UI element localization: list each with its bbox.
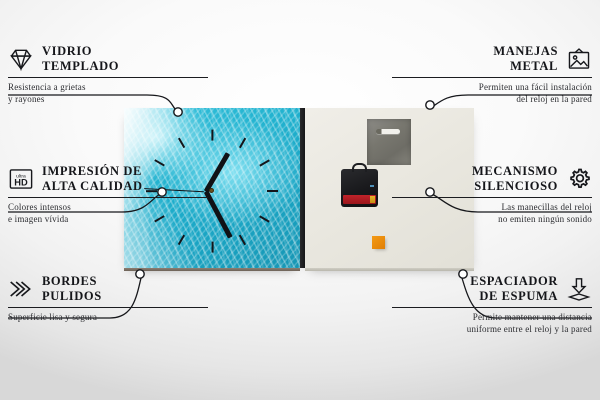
arrow-down-layers-icon — [566, 276, 592, 302]
feature-divider — [8, 197, 208, 198]
feature-sub-line1: Permiten una fácil instalación — [392, 81, 592, 93]
panel-edge-bottom — [124, 268, 300, 271]
clock-minute-hand — [204, 190, 233, 238]
feature-title-line1: IMPRESIÓN DE — [42, 164, 142, 178]
clock-tick — [259, 215, 269, 222]
hanger-keyhole-slot — [376, 129, 400, 134]
feature-subtitle: Resistencia a grietas y rayones — [8, 81, 208, 105]
feature-divider — [8, 77, 208, 78]
feature-header: MANEJAS METAL — [392, 44, 592, 74]
feature-title-line2: DE ESPUMA — [470, 289, 558, 304]
gear-icon — [566, 166, 592, 192]
feature-header: ESPACIADOR DE ESPUMA — [392, 274, 592, 304]
feature-title: VIDRIO TEMPLADO — [42, 44, 119, 74]
clock-tick — [178, 138, 185, 148]
clock-tick — [178, 234, 185, 244]
mechanism-hanging-loop — [352, 163, 367, 172]
feature-subtitle: Colores intensos e imagen vívida — [8, 201, 208, 225]
feature-title-line2: ALTA CALIDAD — [42, 179, 143, 194]
clock-tick — [211, 241, 213, 252]
metal-hanger-plate — [367, 119, 411, 165]
feature-title-line2: SILENCIOSO — [472, 179, 558, 194]
feature-title: ESPACIADOR DE ESPUMA — [470, 274, 558, 304]
feature-subtitle: Superficie lisa y segura — [8, 311, 208, 323]
feature-espaciador-espuma: ESPACIADOR DE ESPUMA Permite mantener un… — [392, 274, 592, 335]
feature-divider — [392, 77, 592, 78]
back-panel-edge-bottom — [305, 268, 474, 271]
clock-tick — [239, 138, 246, 148]
ultra-hd-icon: ultra HD — [8, 166, 34, 192]
feature-sub-line1: Permite mantener una distancia — [392, 311, 592, 323]
feature-sub-line2: no emiten ningún sonido — [392, 213, 592, 225]
feature-header: BORDES PULIDOS — [8, 274, 208, 304]
mechanism-label — [370, 185, 374, 187]
feature-title: IMPRESIÓN DE ALTA CALIDAD — [42, 164, 143, 194]
feature-title-line1: BORDES — [42, 274, 97, 288]
feature-title-line1: VIDRIO — [42, 44, 92, 58]
battery — [343, 195, 376, 204]
feature-sub-line2: del reloj en la pared — [392, 93, 592, 105]
clock-mechanism — [341, 169, 378, 207]
feature-subtitle: Las manecillas del reloj no emiten ningú… — [392, 201, 592, 225]
feature-vidrio-templado: VIDRIO TEMPLADO Resistencia a grietas y … — [8, 44, 208, 105]
feature-divider — [392, 307, 592, 308]
feature-title-line2: PULIDOS — [42, 289, 102, 304]
feature-header: MECANISMO SILENCIOSO — [392, 164, 592, 194]
diamond-icon — [8, 46, 34, 72]
feature-title-line1: MECANISMO — [472, 164, 558, 178]
feature-impresion-alta-calidad: ultra HD IMPRESIÓN DE ALTA CALIDAD Color… — [8, 164, 208, 225]
feature-title: MECANISMO SILENCIOSO — [472, 164, 558, 194]
feature-divider — [392, 197, 592, 198]
svg-text:HD: HD — [14, 177, 28, 187]
feature-bordes-pulidos: BORDES PULIDOS Superficie lisa y segura — [8, 274, 208, 323]
clock-tick — [239, 234, 246, 244]
feature-sub-line1: Superficie lisa y segura — [8, 311, 208, 323]
polished-edges-icon — [8, 276, 34, 302]
feature-title-line2: TEMPLADO — [42, 59, 119, 74]
feature-sub-line1: Las manecillas del reloj — [392, 201, 592, 213]
feature-mecanismo-silencioso: MECANISMO SILENCIOSO Las manecillas del … — [392, 164, 592, 225]
feature-sub-line2: e imagen vívida — [8, 213, 208, 225]
feature-title-line1: MANEJAS — [493, 44, 558, 58]
feature-sub-line2: uniforme entre el reloj y la pared — [392, 323, 592, 335]
feature-title: BORDES PULIDOS — [42, 274, 102, 304]
feature-subtitle: Permiten una fácil instalación del reloj… — [392, 81, 592, 105]
feature-subtitle: Permite mantener una distancia uniforme … — [392, 311, 592, 335]
feature-title-line2: METAL — [493, 59, 558, 74]
clock-center-cap — [209, 188, 214, 193]
feature-title-line1: ESPACIADOR — [470, 274, 558, 288]
clock-tick — [259, 160, 269, 167]
feature-header: VIDRIO TEMPLADO — [8, 44, 208, 74]
feature-sub-line2: y rayones — [8, 93, 208, 105]
clock-tick — [211, 130, 213, 141]
feature-title: MANEJAS METAL — [493, 44, 558, 74]
clock-tick — [267, 190, 278, 192]
feature-divider — [8, 307, 208, 308]
wall-frame-hanger-icon — [566, 46, 592, 72]
foam-spacer — [372, 236, 385, 249]
feature-sub-line1: Colores intensos — [8, 201, 208, 213]
feature-header: ultra HD IMPRESIÓN DE ALTA CALIDAD — [8, 164, 208, 194]
feature-manejas-metal: MANEJAS METAL Permiten una fácil instala… — [392, 44, 592, 105]
infographic-canvas: VIDRIO TEMPLADO Resistencia a grietas y … — [0, 0, 600, 400]
feature-sub-line1: Resistencia a grietas — [8, 81, 208, 93]
